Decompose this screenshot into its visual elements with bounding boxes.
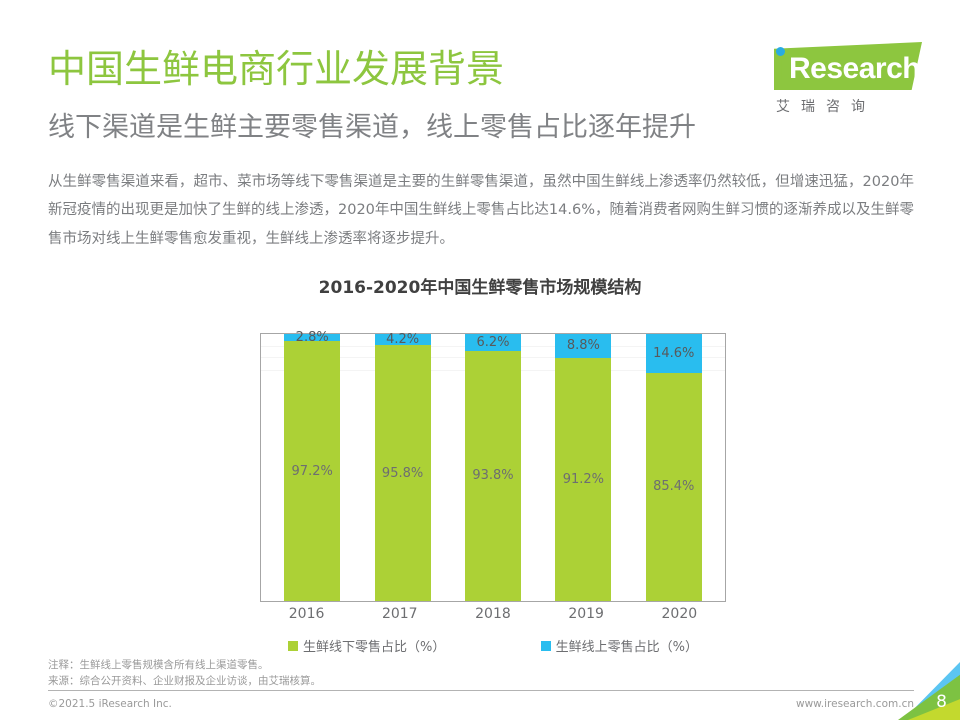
bar-column[interactable]: 6.2%93.8% [465, 334, 521, 601]
page-corner-decoration: 8 [898, 662, 960, 720]
bar-segment-online-label: 4.2% [386, 332, 419, 347]
page-number: 8 [936, 692, 947, 712]
bar-segment-online-label: 8.8% [567, 338, 600, 353]
bar-column[interactable]: 8.8%91.2% [555, 334, 611, 601]
legend-swatch-icon [541, 641, 551, 651]
bar-column[interactable]: 2.8%97.2% [284, 334, 340, 601]
bar-segment-online-label: 2.8% [296, 330, 329, 345]
bar-segment-online[interactable]: 6.2% [465, 334, 521, 351]
bar-segment-offline-label: 95.8% [382, 466, 423, 481]
page-title: 中国生鲜电商行业发展背景 [48, 48, 504, 92]
x-axis-tick-label: 2018 [465, 606, 521, 622]
footer-divider [48, 690, 914, 691]
bar-segment-offline-label: 91.2% [563, 472, 604, 487]
copyright-text: ©2021.5 iResearch Inc. [48, 698, 172, 710]
x-axis-tick-label: 2017 [372, 606, 428, 622]
bar-segment-offline-label: 93.8% [472, 468, 513, 483]
page-subtitle: 线下渠道是生鲜主要零售渠道，线上零售占比逐年提升 [48, 112, 696, 144]
bar-segment-online[interactable]: 14.6% [646, 334, 702, 373]
chart-legend: 生鲜线下零售占比（%）生鲜线上零售占比（%） [260, 636, 726, 655]
slide-root: i Research 艾瑞咨询 中国生鲜电商行业发展背景 线下渠道是生鲜主要零售… [0, 0, 960, 720]
bar-segment-online-label: 6.2% [476, 335, 509, 350]
chart-x-axis-labels: 20162017201820192020 [260, 606, 726, 622]
chart-bars: 2.8%97.2%4.2%95.8%6.2%93.8%8.8%91.2%14.6… [261, 334, 725, 601]
bar-segment-offline[interactable]: 95.8% [375, 345, 431, 601]
x-axis-tick-label: 2016 [279, 606, 335, 622]
legend-item[interactable]: 生鲜线下零售占比（%） [288, 636, 445, 655]
legend-label: 生鲜线上零售占比（%） [556, 636, 698, 655]
chart-notes: 注释：生鲜线上零售规模含所有线上渠道零售。 来源：综合公开资料、企业财报及企业访… [48, 657, 321, 690]
iresearch-logo: i Research 艾瑞咨询 [744, 40, 924, 122]
legend-label: 生鲜线下零售占比（%） [303, 636, 445, 655]
bar-segment-offline[interactable]: 97.2% [284, 341, 340, 601]
website-url[interactable]: www.iresearch.com.cn [796, 698, 914, 710]
x-axis-tick-label: 2020 [651, 606, 707, 622]
bar-segment-online[interactable]: 2.8% [284, 334, 340, 341]
note-line-1: 注释：生鲜线上零售规模含所有线上渠道零售。 [48, 657, 321, 673]
bar-segment-offline[interactable]: 85.4% [646, 373, 702, 601]
legend-item[interactable]: 生鲜线上零售占比（%） [541, 636, 698, 655]
bar-segment-online-label: 14.6% [653, 346, 694, 361]
bar-column[interactable]: 14.6%85.4% [646, 334, 702, 601]
bar-segment-online[interactable]: 4.2% [375, 334, 431, 345]
note-line-2: 来源：综合公开资料、企业财报及企业访谈，由艾瑞核算。 [48, 673, 321, 689]
bar-segment-offline[interactable]: 91.2% [555, 358, 611, 602]
logo-wordmark: Research [789, 52, 920, 86]
chart-title: 2016-2020年中国生鲜零售市场规模结构 [0, 273, 960, 298]
x-axis-tick-label: 2019 [558, 606, 614, 622]
logo-i-dot-icon [776, 47, 785, 56]
bar-column[interactable]: 4.2%95.8% [375, 334, 431, 601]
logo-chinese-name: 艾瑞咨询 [776, 96, 876, 116]
body-paragraph: 从生鲜零售渠道来看，超市、菜市场等线下零售渠道是主要的生鲜零售渠道，虽然中国生鲜… [48, 168, 914, 253]
bar-segment-online[interactable]: 8.8% [555, 334, 611, 357]
bar-segment-offline[interactable]: 93.8% [465, 351, 521, 601]
bar-segment-offline-label: 85.4% [653, 479, 694, 494]
chart-plot-area: 2.8%97.2%4.2%95.8%6.2%93.8%8.8%91.2%14.6… [260, 333, 726, 602]
bar-segment-offline-label: 97.2% [292, 464, 333, 479]
legend-swatch-icon [288, 641, 298, 651]
